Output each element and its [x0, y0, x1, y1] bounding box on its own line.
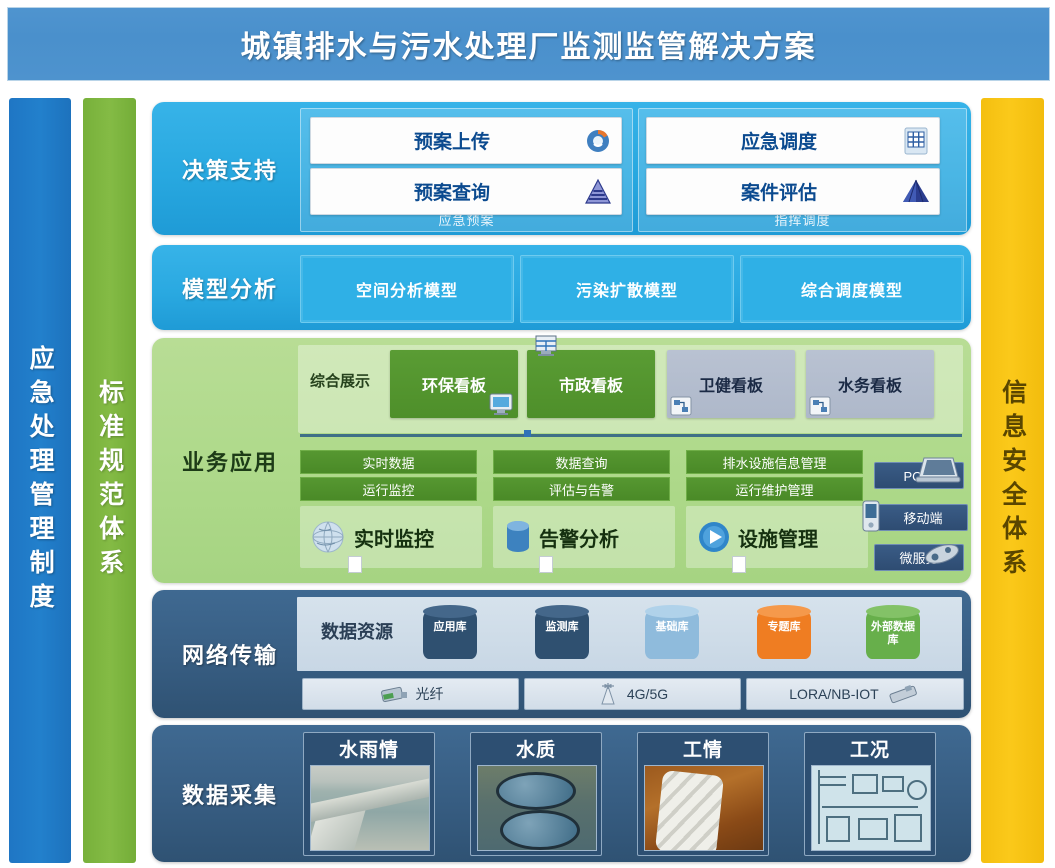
business-column-facility: 排水设施信息管理 运行维护管理 设施管理 [686, 450, 871, 576]
database-thematic-label: 专题库 [757, 621, 811, 634]
pillar-information-security: 信息安全体系 [981, 98, 1044, 863]
database-monitoring[interactable]: 监测库 [535, 605, 589, 663]
board-water-affairs[interactable]: 水务看板 [806, 350, 934, 418]
pillar-right-label: 信息安全体系 [999, 379, 1025, 583]
data-card-water-quality-label: 水质 [471, 733, 601, 763]
database-basic[interactable]: 基础库 [645, 605, 699, 663]
window-icon [533, 334, 559, 358]
pillar-emergency-management: 应急处理管理制度 [9, 98, 71, 863]
layer-business-application-label: 业务应用 [160, 338, 300, 583]
board-municipal-label: 市政看板 [559, 372, 623, 396]
comprehensive-display-label: 综合展示 [300, 370, 380, 391]
decision-card-case-evaluation[interactable]: 案件评估 [646, 168, 940, 215]
network-link-cellular-label: 4G/5G [627, 686, 668, 702]
database-thematic[interactable]: 专题库 [757, 605, 811, 663]
decision-card-plan-query-label: 预案查询 [311, 178, 575, 205]
terminal-mobile[interactable]: 移动端 [878, 504, 968, 531]
diagram-title-bar: 城镇排水与污水处理厂监测监管解决方案 [7, 7, 1050, 81]
play-circle-icon [696, 519, 732, 555]
network-link-fiber-label: 光纤 [416, 684, 444, 704]
business-feature-alarm-analysis-label: 告警分析 [539, 523, 619, 552]
database-application-label: 应用库 [423, 621, 477, 634]
mobile-phone-icon [861, 500, 881, 532]
sedimentation-tanks-photo [477, 765, 597, 851]
striped-pyramid-icon [575, 169, 621, 214]
pillar-left-inner-label: 标准规范体系 [96, 379, 122, 583]
data-card-hydrology[interactable]: 水雨情 [303, 732, 435, 856]
data-card-operating-condition[interactable]: 工况 [804, 732, 936, 856]
board-municipal[interactable]: 市政看板 [527, 350, 655, 418]
database-external-label: 外部数据库 [866, 621, 920, 647]
decision-card-emergency-dispatch[interactable]: 应急调度 [646, 117, 940, 164]
chip-operation-maintenance[interactable]: 运行维护管理 [686, 477, 863, 501]
decision-card-case-evaluation-label: 案件评估 [647, 178, 893, 205]
board-health-label: 卫健看板 [699, 372, 763, 396]
grid-calendar-icon [893, 118, 939, 163]
decision-card-plan-query[interactable]: 预案查询 [310, 168, 622, 215]
network-link-cellular[interactable]: 4G/5G [524, 678, 741, 710]
dark-pyramid-icon [893, 169, 939, 214]
decision-card-plan-upload[interactable]: 预案上传 [310, 117, 622, 164]
model-card-integrated-dispatch[interactable]: 综合调度模型 [740, 255, 964, 323]
decision-card-plan-upload-label: 预案上传 [311, 127, 575, 154]
business-feature-realtime-monitoring-label: 实时监控 [354, 523, 434, 552]
data-card-project-status-label: 工情 [638, 733, 768, 763]
layer-network-transmission-label: 网络传输 [160, 590, 300, 718]
sensor-module-icon [887, 684, 921, 704]
chip-operation-monitor[interactable]: 运行监控 [300, 477, 477, 501]
monitor-icon [488, 392, 514, 416]
chip-evaluation-alarm[interactable]: 评估与告警 [493, 477, 670, 501]
terminal-mobile-label: 移动端 [903, 508, 942, 527]
refresh-circle-icon [575, 118, 621, 163]
page-title: 城镇排水与污水处理厂监测监管解决方案 [241, 22, 817, 66]
data-card-water-quality[interactable]: 水质 [470, 732, 602, 856]
doc-badge-icon [539, 556, 553, 573]
diagram-canvas: 城镇排水与污水处理厂监测监管解决方案 应急处理管理制度 标准规范体系 信息安全体… [0, 0, 1055, 868]
chip-data-query[interactable]: 数据查询 [493, 450, 670, 474]
network-link-lora[interactable]: LORA/NB-IOT [746, 678, 964, 710]
layer-data-collection-label: 数据采集 [160, 725, 300, 862]
network-link-lora-label: LORA/NB-IOT [789, 686, 878, 702]
database-external[interactable]: 外部数据库 [866, 605, 920, 663]
decision-card-emergency-dispatch-label: 应急调度 [647, 127, 893, 154]
scada-schematic-photo [811, 765, 931, 851]
model-card-pollution-diffusion[interactable]: 污染扩散模型 [520, 255, 734, 323]
pillar-left-outer-label: 应急处理管理制度 [27, 345, 53, 617]
business-feature-alarm-analysis[interactable]: 告警分析 [493, 506, 675, 568]
database-application[interactable]: 应用库 [423, 605, 477, 663]
database-monitoring-label: 监测库 [535, 621, 589, 634]
data-card-hydrology-label: 水雨情 [304, 733, 434, 763]
display-rail-divider [300, 434, 962, 437]
river-channel-photo [310, 765, 430, 851]
database-icon [503, 519, 533, 555]
board-environment-label: 环保看板 [422, 372, 486, 396]
layer-decision-support-label: 决策支持 [160, 102, 300, 235]
data-card-project-status[interactable]: 工情 [637, 732, 769, 856]
network-icon [670, 396, 692, 416]
network-icon [809, 396, 831, 416]
doc-badge-icon [732, 556, 746, 573]
globe-icon [308, 517, 348, 557]
device-icon [922, 538, 962, 568]
chip-realtime-data[interactable]: 实时数据 [300, 450, 477, 474]
fiber-cable-icon [378, 684, 408, 704]
rail-marker [524, 430, 531, 437]
business-feature-facility-management[interactable]: 设施管理 [686, 506, 868, 568]
business-feature-realtime-monitoring[interactable]: 实时监控 [300, 506, 482, 568]
laptop-icon [915, 455, 961, 485]
chip-drainage-facility-info[interactable]: 排水设施信息管理 [686, 450, 863, 474]
board-environment[interactable]: 环保看板 [390, 350, 518, 418]
model-card-spatial-analysis[interactable]: 空间分析模型 [300, 255, 514, 323]
pipeline-trench-photo [644, 765, 764, 851]
doc-badge-icon [348, 556, 362, 573]
business-feature-facility-management-label: 设施管理 [738, 523, 818, 552]
database-basic-label: 基础库 [645, 621, 699, 634]
board-water-affairs-label: 水务看板 [838, 372, 902, 396]
layer-model-analysis-label: 模型分析 [160, 245, 300, 330]
board-health[interactable]: 卫健看板 [667, 350, 795, 418]
data-card-operating-condition-label: 工况 [805, 733, 935, 763]
business-column-monitoring: 实时数据 运行监控 实时监控 [300, 450, 485, 576]
antenna-tower-icon [597, 682, 619, 706]
business-column-alarm: 数据查询 评估与告警 告警分析 [493, 450, 678, 576]
network-link-fiber[interactable]: 光纤 [302, 678, 519, 710]
pillar-standards-system: 标准规范体系 [83, 98, 136, 863]
data-resource-label: 数据资源 [307, 618, 407, 644]
